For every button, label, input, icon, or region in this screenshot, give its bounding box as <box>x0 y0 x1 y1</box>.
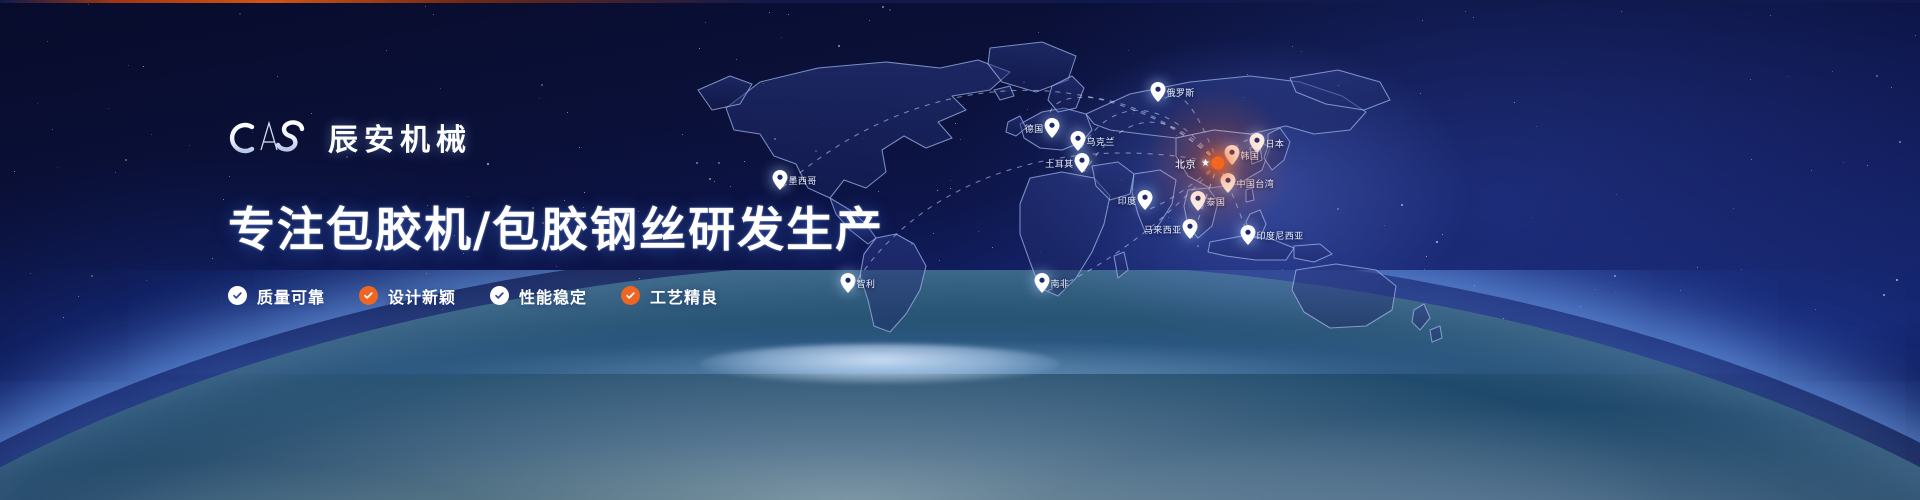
map-pin-label: 南非 <box>1051 277 1070 290</box>
feature-list: 质量可靠设计新颖性能稳定工艺精良 <box>228 284 968 308</box>
feature-label: 设计新颖 <box>388 284 456 308</box>
star-dot <box>869 20 870 21</box>
feature-item: 质量可靠 <box>228 284 325 308</box>
location-pin-icon <box>1075 153 1090 173</box>
location-pin-icon <box>1045 118 1060 138</box>
feature-label: 工艺精良 <box>650 284 718 308</box>
cas-monogram-icon <box>228 116 310 158</box>
feature-item: 工艺精良 <box>621 284 718 308</box>
cas-monogram-svg <box>228 116 310 158</box>
star-dot <box>541 84 543 86</box>
star-dot <box>37 103 38 104</box>
star-dot <box>1770 15 1771 16</box>
star-dot <box>769 12 770 13</box>
hero-text-block: 辰安机械 专注包胶机/包胶钢丝研发生产 质量可靠设计新颖性能稳定工艺精良 <box>228 110 968 308</box>
star-dot <box>1422 20 1423 21</box>
check-circle-icon <box>490 286 509 305</box>
check-circle-icon <box>621 286 640 305</box>
hq-star-icon: ★ <box>1201 158 1210 169</box>
brand-logo[interactable]: 辰安机械 <box>228 110 968 158</box>
star-dot <box>1899 141 1901 143</box>
check-circle-icon <box>359 286 378 305</box>
star-dot <box>1915 35 1916 36</box>
star-dot <box>212 258 213 259</box>
star-dot <box>440 88 441 89</box>
map-pin[interactable]: 土耳其 <box>1075 153 1090 173</box>
star-dot <box>788 14 789 15</box>
star-dot <box>223 199 224 200</box>
star-dot <box>14 171 15 172</box>
map-pin[interactable]: 南非 <box>1035 273 1050 293</box>
map-pin[interactable]: 德国 <box>1045 118 1060 138</box>
hero-banner: 墨西哥智利德国乌克兰土耳其俄罗斯日本韩国中国台湾印度泰国马来西亚印度尼西亚南非 … <box>0 0 1920 500</box>
star-dot <box>151 134 152 135</box>
star-dot <box>425 6 426 7</box>
star-dot <box>143 66 144 67</box>
star-dot <box>189 145 190 146</box>
star-dot <box>705 22 706 23</box>
map-pin[interactable]: 乌克兰 <box>1071 131 1086 151</box>
location-pin-icon <box>1035 273 1050 293</box>
hq-dot-icon <box>1212 157 1225 170</box>
map-pin-label: 乌克兰 <box>1087 135 1115 148</box>
map-pin[interactable]: 俄罗斯 <box>1151 82 1166 102</box>
feature-label: 质量可靠 <box>257 284 325 308</box>
brand-name: 辰安机械 <box>328 126 472 158</box>
star-dot <box>277 76 278 77</box>
star-dot <box>239 13 241 15</box>
location-pin-icon <box>1071 131 1086 151</box>
star-dot <box>128 65 129 66</box>
star-dot <box>88 4 89 5</box>
star-dot <box>1465 11 1466 12</box>
feature-item: 设计新颖 <box>359 284 456 308</box>
map-pin-label: 印度尼西亚 <box>1257 229 1304 242</box>
star-dot <box>108 108 109 109</box>
location-pin-icon <box>1151 82 1166 102</box>
star-dot <box>889 9 891 11</box>
top-accent-line <box>0 0 1920 3</box>
star-dot <box>1473 17 1474 18</box>
map-pin-label: 德国 <box>1025 122 1044 135</box>
feature-label: 性能稳定 <box>519 284 587 308</box>
map-pin-label: 印度 <box>1118 194 1137 207</box>
star-dot <box>386 50 387 51</box>
star-dot <box>47 41 48 42</box>
page-title: 专注包胶机/包胶钢丝研发生产 <box>228 206 968 256</box>
star-dot <box>433 14 434 15</box>
star-dot <box>539 98 540 99</box>
hq-label: 北京 <box>1175 156 1196 171</box>
star-dot <box>1621 11 1622 12</box>
feature-item: 性能稳定 <box>490 284 587 308</box>
star-dot <box>52 129 53 130</box>
star-dot <box>1891 87 1892 88</box>
map-pin-label: 土耳其 <box>1045 157 1073 170</box>
star-dot <box>882 6 884 8</box>
check-circle-icon <box>228 286 247 305</box>
star-dot <box>1038 32 1039 33</box>
star-dot <box>115 172 116 173</box>
star-dot <box>125 159 127 161</box>
star-dot <box>57 167 58 168</box>
